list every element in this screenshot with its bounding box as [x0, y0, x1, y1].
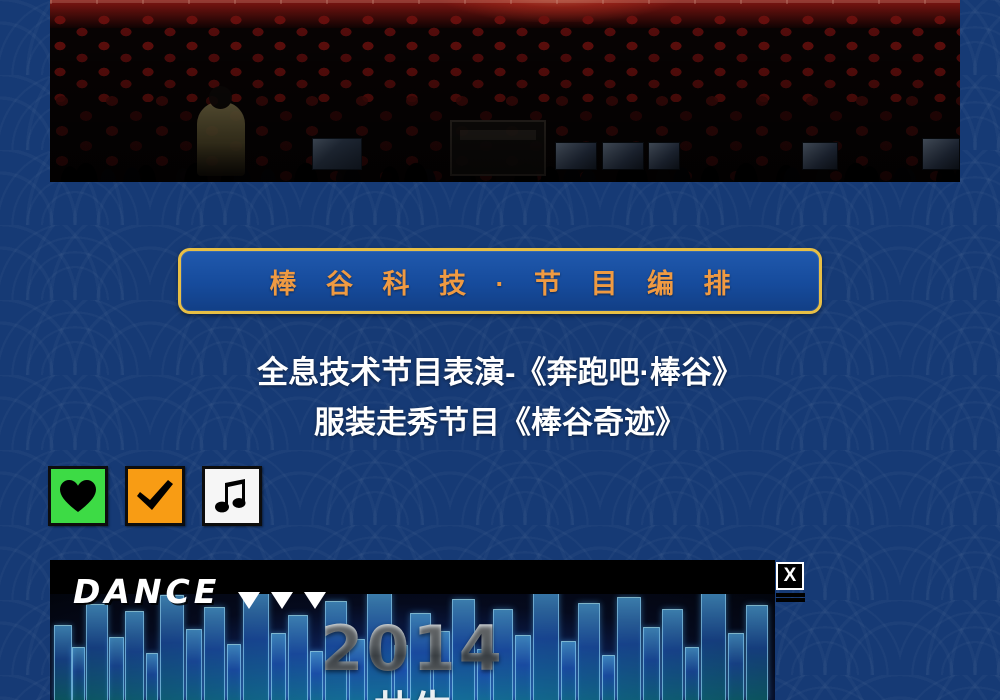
video-year-title: 2014 [50, 612, 775, 685]
triangle-down-icon [271, 592, 293, 609]
photo-layers [50, 0, 960, 182]
check-icon [135, 479, 175, 513]
page-root: 棒 谷 科 技 · 节 目 编 排 全息技术节目表演-《奔跑吧·棒谷》 服装走秀… [0, 0, 1000, 700]
close-icon[interactable]: X [776, 562, 804, 590]
dance-video-thumbnail[interactable]: 2014 共生 DANCE [50, 560, 775, 700]
triangle-down-icon [304, 592, 326, 609]
dance-label: DANCE [73, 572, 220, 611]
check-icon-tile[interactable] [125, 466, 185, 526]
triangle-down-icon [238, 592, 260, 609]
dance-arrow-group [238, 592, 326, 609]
video-year-subtitle: 共生 [50, 678, 775, 700]
heart-icon-tile[interactable] [48, 466, 108, 526]
music-note-icon-tile[interactable] [202, 466, 262, 526]
subtitle-line-1: 全息技术节目表演-《奔跑吧·棒谷》 [0, 348, 1000, 398]
section-title-banner: 棒 谷 科 技 · 节 目 编 排 [178, 248, 822, 314]
auditorium-audience-photo [50, 0, 960, 182]
photo-vignette [50, 0, 960, 182]
placeholder-bar [776, 593, 805, 597]
section-title-text: 棒 谷 科 技 · 节 目 编 排 [258, 262, 741, 301]
broken-image-placeholder[interactable]: X [776, 562, 806, 597]
icon-tile-row [48, 466, 262, 526]
subtitle-line-2: 服装走秀节目《棒谷奇迹》 [0, 398, 1000, 448]
music-note-icon [214, 477, 250, 515]
heart-icon [59, 479, 97, 513]
program-subtitles: 全息技术节目表演-《奔跑吧·棒谷》 服装走秀节目《棒谷奇迹》 [0, 348, 1000, 448]
